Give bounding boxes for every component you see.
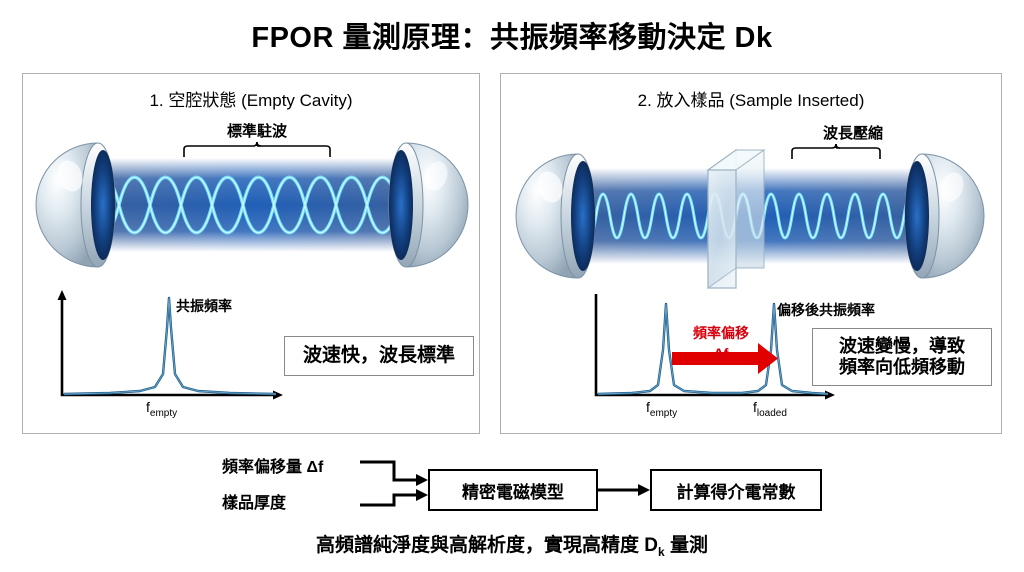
callout-sample-inserted: 波速變慢，導致 頻率向低頻移動 [812,328,992,386]
bracket-wavelength-compression [790,144,882,160]
empty-cavity-illustration [40,140,464,270]
label-frequency-shift: 頻率偏移 Δf [673,323,769,361]
footer-note-sub: k [658,545,665,559]
plot-empty-cavity [50,288,290,400]
right-mirror [389,143,468,267]
callout-sample-line2: 頻率向低頻移動 [839,357,965,378]
label-standard-standing-wave: 標準駐波 [205,120,309,141]
footer-note-suffix: 量測 [665,535,708,556]
label-frequency-shift-line1: 頻率偏移 [673,323,769,343]
flow-box-dielectric-constant: 計算得介電常數 [650,469,822,511]
tick-f-empty-left: fempty [146,399,177,419]
tick-f-empty-right: fempty [646,399,677,419]
bracket-standing-wave [182,142,332,158]
label-wavelength-compression: 波長壓縮 [801,122,905,143]
label-shifted-resonance-frequency: 偏移後共振頻率 [777,300,875,320]
tick-f-loaded-sub: loaded [757,408,787,419]
label-frequency-shift-line2: Δf [673,345,769,361]
panel-heading-empty-cavity: 1. 空腔狀態 (Empty Cavity) [23,86,479,111]
panel-heading-sample-inserted: 2. 放入樣品 (Sample Inserted) [501,86,1001,111]
left-mirror [36,143,115,267]
footer-note: 高頻譜純淨度與高解析度，實現高精度 Dk 量測 [0,530,1024,559]
tick-f-empty-left-sub: empty [150,408,177,419]
flow-input-frequency-shift: 頻率偏移量 Δf [222,453,323,477]
tick-f-empty-right-sub: empty [650,408,677,419]
flow-box-em-model: 精密電磁模型 [428,469,598,511]
label-resonance-frequency: 共振頻率 [176,296,232,316]
page-title: FPOR 量測原理：共振頻率移動決定 Dk [0,14,1024,56]
callout-sample-line1: 波速變慢，導致 [839,336,965,357]
diagram-canvas: FPOR 量測原理：共振頻率移動決定 Dk 1. 空腔狀態 (Empty Cav… [0,0,1024,572]
flow-input-sample-thickness: 樣品厚度 [222,489,286,513]
right-mirror-sample [905,154,984,278]
callout-empty-cavity: 波速快，波長標準 [284,336,474,376]
tick-f-loaded: floaded [753,399,787,419]
footer-note-prefix: 高頻譜純淨度與高解析度，實現高精度 D [316,535,658,556]
flow-arrow-model-to-result [598,482,654,498]
sample-cavity-illustration [520,140,980,290]
sample-slab [708,150,764,288]
left-mirror-sample [516,154,595,278]
